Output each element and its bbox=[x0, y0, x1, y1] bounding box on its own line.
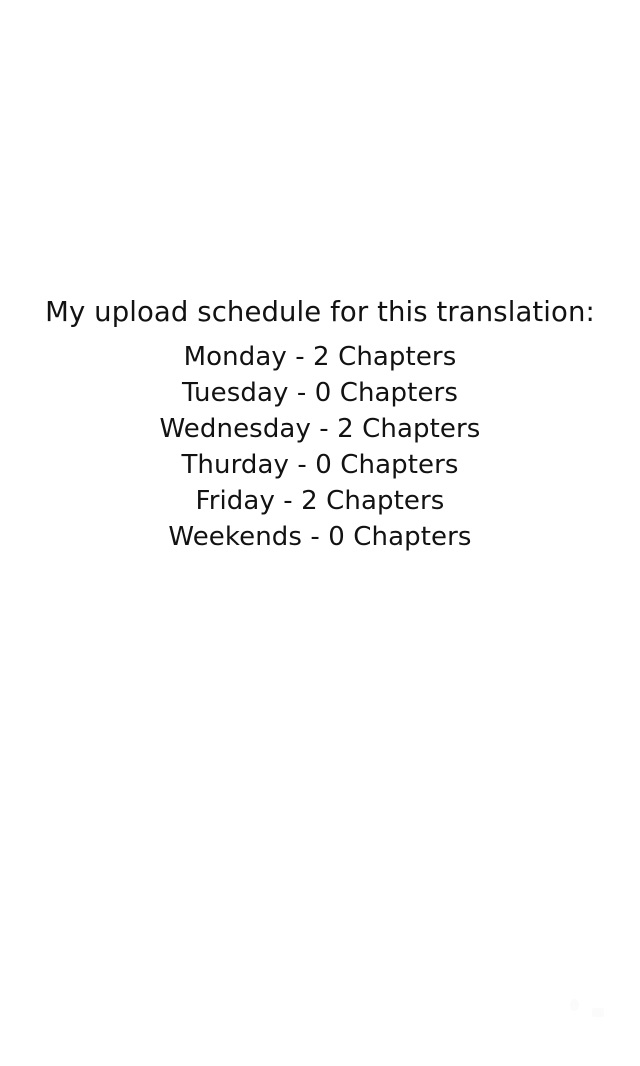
list-item: Monday - 2 Chapters bbox=[0, 339, 640, 375]
list-item: Wednesday - 2 Chapters bbox=[0, 411, 640, 447]
schedule-list: Monday - 2 Chapters Tuesday - 0 Chapters… bbox=[0, 339, 640, 555]
list-item: Tuesday - 0 Chapters bbox=[0, 375, 640, 411]
upload-schedule-note: My upload schedule for this translation:… bbox=[0, 294, 640, 555]
page-canvas: My upload schedule for this translation:… bbox=[0, 0, 640, 1066]
page-title: My upload schedule for this translation: bbox=[0, 294, 640, 330]
list-item: Friday - 2 Chapters bbox=[0, 483, 640, 519]
scan-artifact bbox=[592, 1008, 604, 1017]
scan-artifact bbox=[570, 999, 579, 1011]
list-item: Thurday - 0 Chapters bbox=[0, 447, 640, 483]
list-item: Weekends - 0 Chapters bbox=[0, 519, 640, 555]
